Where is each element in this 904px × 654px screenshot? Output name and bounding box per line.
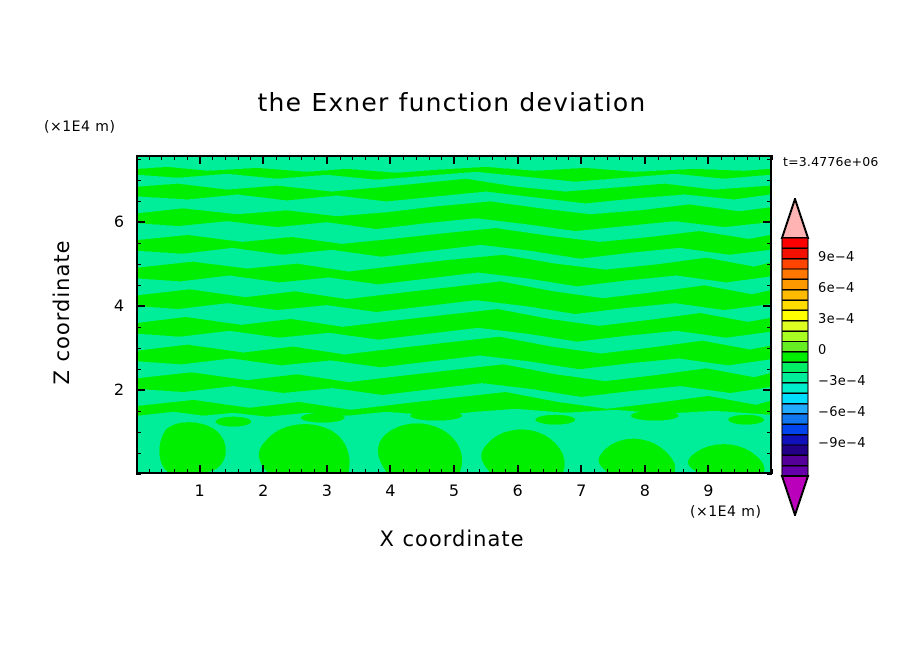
y-tick-right <box>767 474 772 475</box>
x-tick-label: 9 <box>693 481 723 500</box>
y-tick-left <box>136 201 141 202</box>
x-tick-label: 8 <box>630 481 660 500</box>
y-tick-left <box>136 348 141 349</box>
colorbar-band <box>782 445 808 456</box>
colorbar[interactable] <box>780 198 810 516</box>
x-tick-top <box>580 155 582 164</box>
colorbar-over-cap <box>782 199 808 238</box>
x-tick-top <box>747 155 748 160</box>
colorbar-tick-label: −9e−4 <box>818 436 866 451</box>
colorbar-band <box>782 383 808 394</box>
y-axis-title: Z coordinate <box>50 222 74 402</box>
x-tick-bottom <box>149 469 150 474</box>
y-tick-label: 4 <box>94 296 124 315</box>
x-tick-bottom <box>594 469 595 474</box>
x-tick-bottom <box>429 469 430 474</box>
y-tick-left <box>136 389 145 391</box>
x-tick-bottom <box>174 469 175 474</box>
x-tick-top <box>467 155 468 160</box>
x-tick-top <box>568 155 569 160</box>
colorbar-band <box>782 393 808 404</box>
y-tick-right <box>763 389 772 391</box>
y-tick-left <box>136 453 141 454</box>
colorbar-tick-label: −6e−4 <box>818 405 866 420</box>
x-tick-label: 4 <box>375 481 405 500</box>
x-tick-top <box>276 155 277 160</box>
colorbar-band <box>782 404 808 415</box>
x-tick-top <box>403 155 404 160</box>
x-tick-top <box>187 155 188 160</box>
y-tick-label: 2 <box>94 380 124 399</box>
y-tick-left <box>136 411 141 412</box>
y-tick-left <box>136 305 145 307</box>
x-tick-label: 2 <box>248 481 278 500</box>
x-tick-bottom <box>492 469 493 474</box>
x-tick-bottom <box>543 469 544 474</box>
x-tick-bottom <box>340 469 341 474</box>
y-tick-right <box>767 327 772 328</box>
x-tick-top <box>262 155 264 164</box>
colorbar-band <box>782 290 808 301</box>
x-tick-bottom <box>225 469 226 474</box>
x-tick-top <box>607 155 608 160</box>
x-tick-bottom <box>530 469 531 474</box>
x-tick-label: 3 <box>312 481 342 500</box>
x-tick-top <box>517 155 519 164</box>
x-tick-bottom <box>721 469 722 474</box>
colorbar-tick-label: 3e−4 <box>818 312 855 327</box>
x-tick-bottom <box>250 469 251 474</box>
x-tick-top <box>161 155 162 160</box>
colorbar-band <box>782 259 808 270</box>
x-tick-bottom <box>670 469 671 474</box>
x-tick-top <box>644 155 646 164</box>
colorbar-tick-label: 9e−4 <box>818 250 855 265</box>
colorbar-band <box>782 269 808 280</box>
y-tick-left <box>136 180 141 181</box>
x-tick-bottom <box>314 469 315 474</box>
y-tick-left <box>136 243 141 244</box>
x-tick-top <box>212 155 213 160</box>
x-tick-top <box>301 155 302 160</box>
colorbar-under-cap <box>782 476 808 515</box>
contour-plot-area <box>136 155 772 474</box>
x-tick-bottom <box>607 469 608 474</box>
y-tick-label: 6 <box>94 212 124 231</box>
x-tick-bottom <box>389 465 391 474</box>
y-tick-right <box>767 159 772 160</box>
x-tick-bottom <box>619 469 620 474</box>
y-tick-left <box>136 369 141 370</box>
x-tick-top <box>416 155 417 160</box>
x-tick-top <box>479 155 480 160</box>
x-tick-top <box>707 155 709 164</box>
colorbar-band <box>782 279 808 290</box>
x-tick-top <box>429 155 430 160</box>
y-tick-right <box>767 348 772 349</box>
x-axis-title: X coordinate <box>0 527 904 551</box>
x-tick-top <box>326 155 328 164</box>
colorbar-band <box>782 373 808 384</box>
x-tick-label: 6 <box>503 481 533 500</box>
colorbar-band <box>782 352 808 363</box>
x-tick-bottom <box>644 465 646 474</box>
y-tick-left <box>136 285 141 286</box>
x-tick-top <box>492 155 493 160</box>
y-tick-left <box>136 264 141 265</box>
colorbar-band <box>782 238 808 249</box>
x-tick-bottom <box>403 469 404 474</box>
x-tick-top <box>453 155 455 164</box>
x-tick-bottom <box>759 469 760 474</box>
y-tick-left <box>136 474 141 475</box>
x-tick-top <box>759 155 760 160</box>
x-tick-bottom <box>289 469 290 474</box>
x-tick-top <box>441 155 442 160</box>
x-tick-top <box>225 155 226 160</box>
x-tick-top <box>174 155 175 160</box>
x-tick-bottom <box>187 469 188 474</box>
x-axis-unit-label: (×1E4 m) <box>690 504 761 520</box>
x-tick-top <box>199 155 201 164</box>
x-tick-top <box>658 155 659 160</box>
colorbar-band <box>782 414 808 425</box>
y-tick-right <box>767 243 772 244</box>
x-tick-top <box>543 155 544 160</box>
x-tick-top <box>505 155 506 160</box>
x-tick-top <box>721 155 722 160</box>
x-tick-top <box>619 155 620 160</box>
y-tick-right <box>767 285 772 286</box>
x-tick-top <box>389 155 391 164</box>
x-tick-bottom <box>212 469 213 474</box>
x-tick-bottom <box>467 469 468 474</box>
x-tick-top <box>352 155 353 160</box>
x-tick-top <box>238 155 239 160</box>
x-tick-bottom <box>161 469 162 474</box>
colorbar-band <box>782 435 808 446</box>
y-tick-left <box>136 221 145 223</box>
x-tick-bottom <box>556 469 557 474</box>
x-tick-bottom <box>568 469 569 474</box>
x-tick-top <box>149 155 150 160</box>
colorbar-band <box>782 331 808 342</box>
y-tick-left <box>136 327 141 328</box>
colorbar-band <box>782 362 808 373</box>
x-tick-top <box>734 155 735 160</box>
contour-field <box>138 157 770 472</box>
x-tick-bottom <box>326 465 328 474</box>
x-tick-bottom <box>707 465 709 474</box>
x-tick-bottom <box>683 469 684 474</box>
y-tick-right <box>767 453 772 454</box>
x-tick-bottom <box>199 465 201 474</box>
x-tick-top <box>340 155 341 160</box>
x-tick-top <box>289 155 290 160</box>
colorbar-band <box>782 466 808 477</box>
x-tick-top <box>670 155 671 160</box>
y-tick-right <box>767 369 772 370</box>
x-tick-top <box>683 155 684 160</box>
x-tick-label: 1 <box>185 481 215 500</box>
y-tick-right <box>767 411 772 412</box>
y-tick-right <box>763 305 772 307</box>
colorbar-band <box>782 321 808 332</box>
y-tick-right <box>767 264 772 265</box>
x-tick-bottom <box>479 469 480 474</box>
colorbar-band <box>782 424 808 435</box>
x-tick-bottom <box>696 469 697 474</box>
x-tick-bottom <box>378 469 379 474</box>
y-axis-unit-label: (×1E4 m) <box>44 119 115 135</box>
x-tick-bottom <box>276 469 277 474</box>
x-tick-bottom <box>734 469 735 474</box>
x-tick-bottom <box>658 469 659 474</box>
x-tick-label: 7 <box>566 481 596 500</box>
y-tick-left <box>136 159 141 160</box>
x-tick-bottom <box>747 469 748 474</box>
page-title: the Exner function deviation <box>0 88 904 117</box>
y-tick-left <box>136 432 141 433</box>
x-tick-bottom <box>262 465 264 474</box>
x-tick-top <box>314 155 315 160</box>
colorbar-tick-label: 6e−4 <box>818 281 855 296</box>
x-tick-bottom <box>365 469 366 474</box>
x-tick-bottom <box>352 469 353 474</box>
x-tick-top <box>365 155 366 160</box>
y-tick-right <box>767 201 772 202</box>
colorbar-band <box>782 300 808 311</box>
colorbar-band <box>782 248 808 259</box>
x-tick-bottom <box>505 469 506 474</box>
figure-canvas: the Exner function deviation (×1E4 m) (×… <box>0 0 904 654</box>
colorbar-tick-label: 0 <box>818 343 827 358</box>
colorbar-band <box>782 455 808 466</box>
x-tick-top <box>530 155 531 160</box>
x-tick-top <box>772 155 773 160</box>
x-tick-top <box>378 155 379 160</box>
colorbar-band <box>782 341 808 352</box>
x-tick-bottom <box>301 469 302 474</box>
x-tick-label: 5 <box>439 481 469 500</box>
x-tick-bottom <box>238 469 239 474</box>
x-tick-top <box>632 155 633 160</box>
x-tick-bottom <box>453 465 455 474</box>
y-tick-right <box>763 221 772 223</box>
x-tick-bottom <box>416 469 417 474</box>
x-tick-top <box>696 155 697 160</box>
x-tick-bottom <box>580 465 582 474</box>
colorbar-tick-label: −3e−4 <box>818 374 866 389</box>
colorbar-band <box>782 310 808 321</box>
x-tick-bottom <box>772 469 773 474</box>
timestamp-annotation: t=3.4776e+06 <box>783 154 879 169</box>
y-tick-right <box>767 180 772 181</box>
x-tick-bottom <box>441 469 442 474</box>
y-tick-right <box>767 432 772 433</box>
x-tick-top <box>594 155 595 160</box>
x-tick-bottom <box>517 465 519 474</box>
x-tick-bottom <box>632 469 633 474</box>
x-tick-top <box>250 155 251 160</box>
x-tick-top <box>556 155 557 160</box>
